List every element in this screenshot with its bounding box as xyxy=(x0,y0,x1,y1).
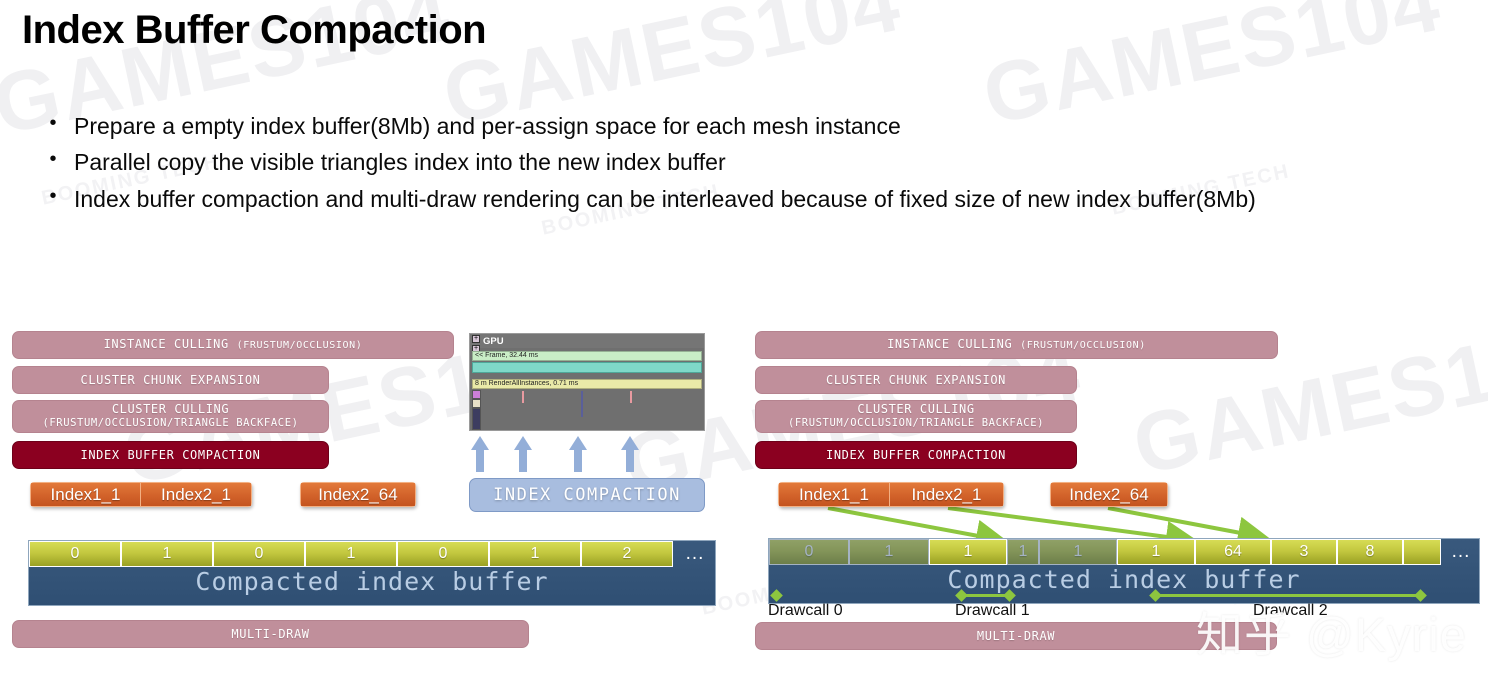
list-item: • Prepare a empty index buffer(8Mb) and … xyxy=(32,108,1472,144)
drawcall-label: Drawcall 2 xyxy=(1253,602,1328,620)
index-chip: Index2_64 xyxy=(1050,482,1168,507)
stage-label-line1: CLUSTER CULLING xyxy=(857,402,974,417)
bullet-text: Parallel copy the visible triangles inde… xyxy=(74,144,1472,180)
page-title: Index Buffer Compaction xyxy=(22,8,486,53)
bullet-marker: • xyxy=(32,181,74,213)
bullet-text: Prepare a empty index buffer(8Mb) and pe… xyxy=(74,108,1472,144)
index-chip: Index1_1 xyxy=(778,482,889,507)
buffer-cell-row: 0 1 1 1 1 1 64 3 8 ... xyxy=(769,539,1481,565)
stage-instance-culling: INSTANCE CULLING (FRUSTUM/OCCLUSION) xyxy=(755,331,1278,359)
drawcall-range-line xyxy=(961,594,1009,597)
stage-label: MULTI-DRAW xyxy=(977,629,1055,644)
buffer-cell: 1 xyxy=(849,539,929,565)
buffer-label: Compacted index buffer xyxy=(769,565,1479,594)
stage-multi-draw: MULTI-DRAW xyxy=(755,622,1277,650)
stage-index-buffer-compaction: INDEX BUFFER COMPACTION xyxy=(755,441,1077,469)
buffer-cell: 3 xyxy=(1271,539,1337,565)
list-item: • Parallel copy the visible triangles in… xyxy=(32,144,1472,180)
bullet-marker: • xyxy=(32,108,74,140)
buffer-cell xyxy=(1403,539,1441,565)
bullet-list: • Prepare a empty index buffer(8Mb) and … xyxy=(32,108,1472,217)
buffer-cell: 1 xyxy=(1039,539,1117,565)
drawcall-label: Drawcall 1 xyxy=(955,602,1030,620)
index-chip-group-b: Index2_64 xyxy=(1050,482,1168,507)
buffer-cell: 8 xyxy=(1337,539,1403,565)
stage-label: INSTANCE CULLING (FRUSTUM/OCCLUSION) xyxy=(887,337,1146,353)
stage-cluster-chunk-expansion: CLUSTER CHUNK EXPANSION xyxy=(755,366,1077,394)
stage-cluster-culling: CLUSTER CULLING (FRUSTUM/OCCLUSION/TRIAN… xyxy=(755,400,1077,433)
drawcall-label: Drawcall 0 xyxy=(768,602,843,620)
bullet-marker: • xyxy=(32,144,74,176)
stage-label: INDEX BUFFER COMPACTION xyxy=(826,448,1006,463)
buffer-cell: 1 xyxy=(1007,539,1039,565)
bullet-text: Index buffer compaction and multi-draw r… xyxy=(74,181,1472,217)
buffer-cell: 1 xyxy=(929,539,1007,565)
list-item: • Index buffer compaction and multi-draw… xyxy=(32,181,1472,217)
index-chip-group-a: Index1_1 Index2_1 xyxy=(778,482,1004,507)
buffer-ellipsis: ... xyxy=(1441,539,1481,565)
stage-label: CLUSTER CHUNK EXPANSION xyxy=(826,373,1006,388)
stage-label-line2: (FRUSTUM/OCCLUSION/TRIANGLE BACKFACE) xyxy=(788,417,1044,430)
buffer-cell: 0 xyxy=(769,539,849,565)
right-pipeline-diagram: INSTANCE CULLING (FRUSTUM/OCCLUSION) CLU… xyxy=(0,0,1488,688)
buffer-cell: 1 xyxy=(1117,539,1195,565)
index-chip: Index2_1 xyxy=(889,482,1004,507)
buffer-cell: 64 xyxy=(1195,539,1271,565)
drawcall-range-line xyxy=(1155,594,1420,597)
